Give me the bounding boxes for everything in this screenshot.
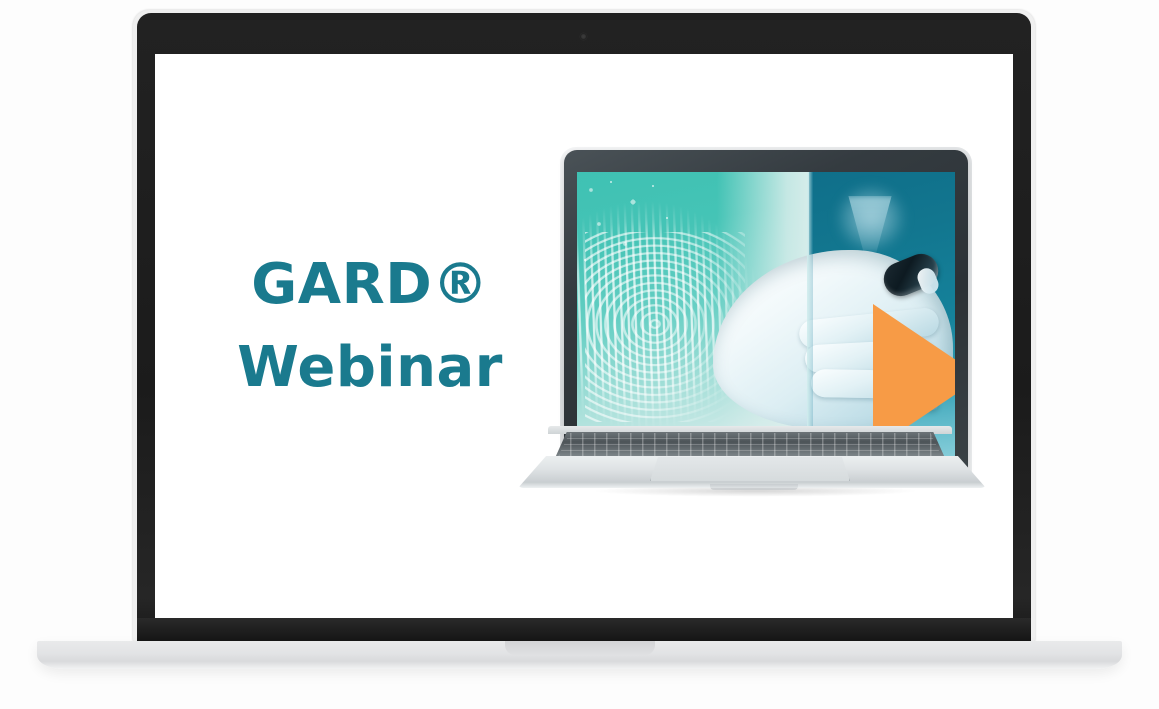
webcam-icon (580, 33, 587, 40)
panel-seam (807, 172, 813, 468)
video-thumbnail[interactable] (577, 172, 955, 468)
inner-laptop-base (500, 426, 1000, 496)
keyboard-keys (558, 433, 942, 457)
laptop-mockup-slide: GARD® Webinar (0, 0, 1159, 709)
outer-laptop-base-notch (505, 641, 655, 655)
outer-laptop-hinge (137, 618, 1031, 642)
pixel-speckle (577, 172, 687, 292)
outer-laptop-screen: GARD® Webinar (155, 54, 1013, 618)
inner-laptop (155, 54, 1013, 618)
trackpad (650, 457, 850, 481)
laptop-drop-shadow (530, 488, 980, 502)
